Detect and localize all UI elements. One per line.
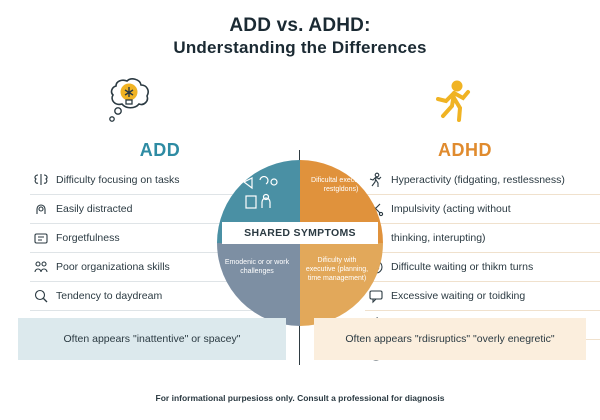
head-gear-icon [30,201,52,217]
thought-bubble-lightbulb-icon [100,78,158,128]
shared-symptoms-label: SHARED SYMPTOMS [222,222,378,244]
list-item-label: Tendency to daydream [52,290,162,302]
list-item-label: Impulsivity (acting without [387,203,511,215]
circle-quadrant-bottom-left [217,243,300,326]
list-item-label: Difficulty focusing on tasks [52,174,180,186]
quadrant-label-bottom-left: Emodenic or or work challenges [222,258,292,276]
adhd-heading: ADHD [390,140,540,161]
brain-icon [30,172,52,188]
list-item-label: Excessive waiting or toidking [387,290,525,302]
infographic-stage: ADD vs. ADHD: Understanding the Differen… [0,0,600,420]
page-title: ADD vs. ADHD: Understanding the Differen… [0,0,600,58]
list-item-label: Hyperactivity (fidgating, restlessness) [387,174,565,186]
list-item-label: Forgetfulness [52,232,120,244]
list-item: Hyperactivity (fidgating, restlessness) [365,166,600,195]
quadrant-label-bottom-right: Dificulty with executive (planning, time… [302,256,372,283]
list-item: Difficulte waiting or thikm turns [365,253,600,282]
running-person-icon [430,78,478,128]
add-heading: ADD [90,140,230,161]
adhd-summary-banner: Often appears "rdisruptics" "overly eneg… [314,318,586,360]
list-item-label: thinking, interupting) [387,232,486,244]
daydream-icon [30,288,52,304]
title-line-1: ADD vs. ADHD: [0,14,600,37]
list-item: Excessive waiting or toidking [365,282,600,311]
list-item-label: Difficulte waiting or thikm turns [387,261,533,273]
organization-icon [30,259,52,275]
list-item-label: Poor organizationa skills [52,261,170,273]
list-item-label: Easily distracted [52,203,132,215]
shared-symptoms-glyph [240,176,286,214]
list-item: Impulsivity (acting without [365,195,600,224]
title-line-2: Understanding the Differences [0,37,600,58]
footer-disclaimer: For informational purpesioss only. Consu… [0,393,600,403]
list-item: thinking, interupting) [365,224,600,253]
add-summary-banner: Often appears "inattentive" or spacey" [18,318,286,360]
quadrant-label-top-right: Dificultal executiva, restgldons) [306,176,376,194]
memory-icon [30,230,52,246]
